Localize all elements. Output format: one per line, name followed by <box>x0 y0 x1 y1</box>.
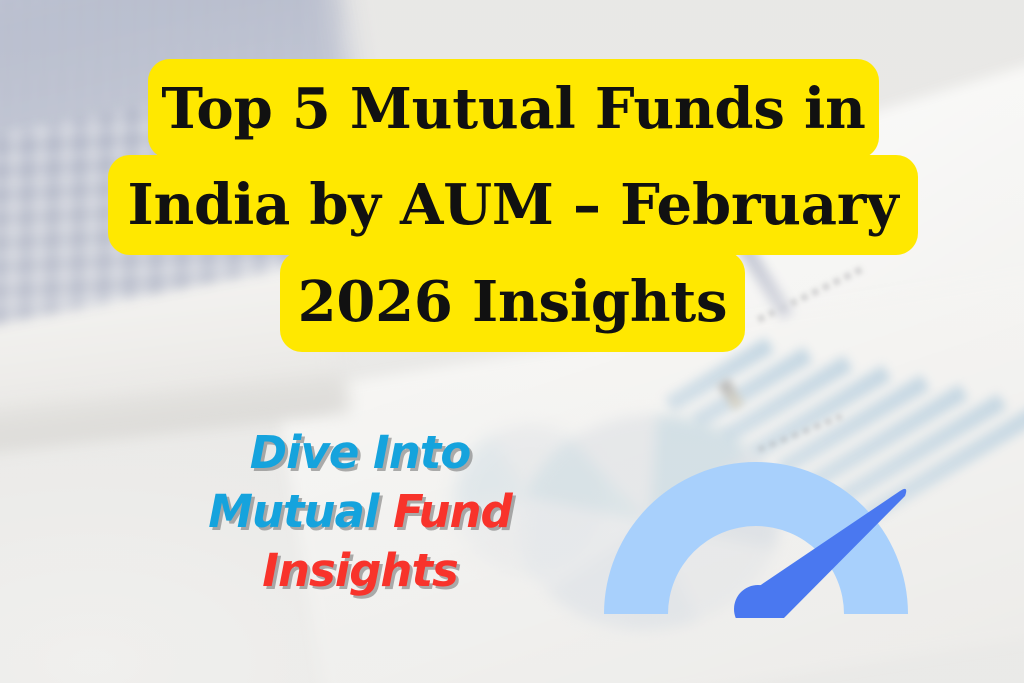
subheadline-line-2-blue-text: Mutual <box>208 485 393 538</box>
subheadline-line-3: Insights <box>160 541 560 600</box>
title-line-3: 2026 Insights <box>280 251 745 352</box>
page-title: Top 5 Mutual Funds in India by AUM – Feb… <box>0 0 1024 360</box>
title-line-1: Top 5 Mutual Funds in <box>148 59 879 159</box>
title-line-2: India by AUM – February <box>108 155 918 255</box>
subheadline-line-1: Dive Into <box>160 423 560 482</box>
subheadline-line-2: Mutual Fund <box>160 482 560 541</box>
subheadline-line-2-red-text: Fund <box>393 485 512 538</box>
subheadline-line-3-text: Insights <box>262 544 458 597</box>
subheadline: Dive Into Mutual Fund Insights <box>160 423 560 600</box>
poster-canvas: Top 5 Mutual Funds in India by AUM – Feb… <box>0 0 1024 683</box>
subheadline-line-1-text: Dive Into <box>250 426 471 479</box>
speedometer-gauge-icon <box>603 423 909 618</box>
